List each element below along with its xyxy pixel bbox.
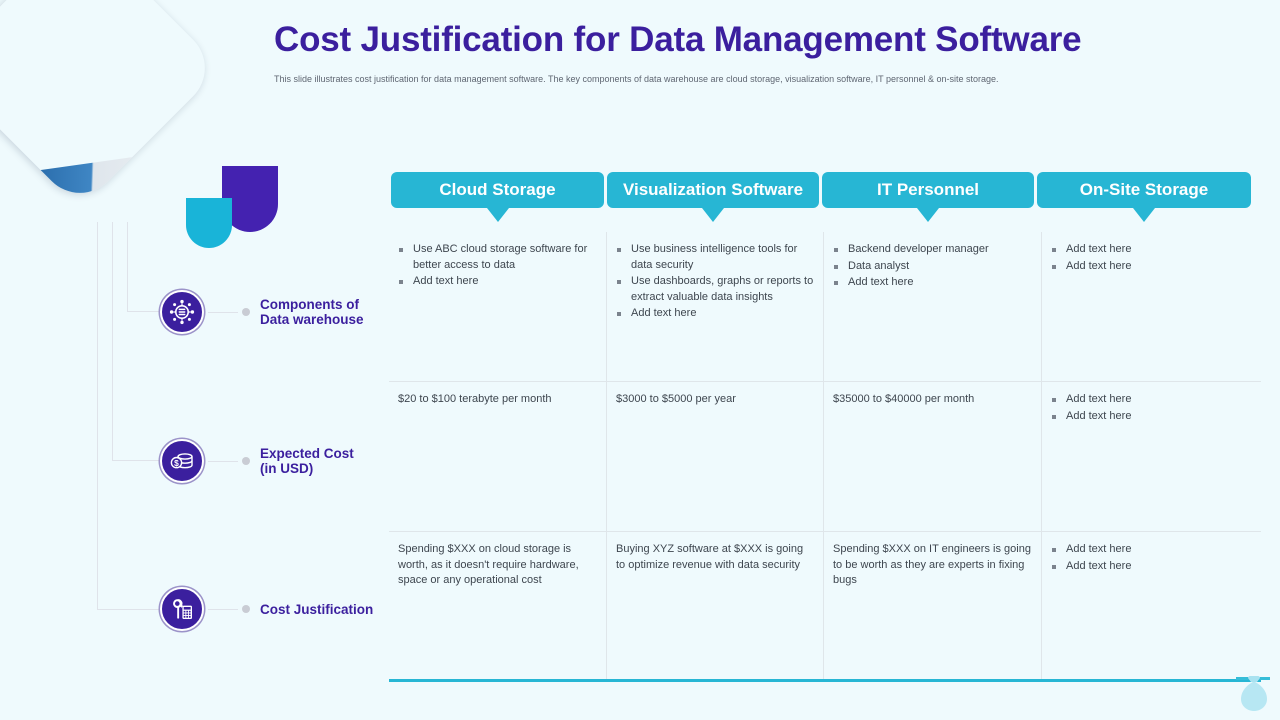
tab-pointer-icon: [1133, 208, 1155, 222]
table-cell: $3000 to $5000 per year: [607, 382, 824, 532]
bullet-list: Use ABC cloud storage software for bette…: [398, 242, 597, 290]
table-cell: Use business intelligence tools for data…: [607, 232, 824, 382]
table-cell: Backend developer manager Data analyst A…: [824, 232, 1042, 382]
list-item: Add text here: [616, 306, 814, 322]
cell-text: $3000 to $5000 per year: [616, 392, 814, 408]
table-cell: Buying XYZ software at $XXX is going to …: [607, 532, 824, 679]
cell-text: Buying XYZ software at $XXX is going to …: [616, 542, 814, 573]
hero-photo: [0, 0, 221, 209]
calculator-gear-icon: [160, 587, 204, 631]
list-item: Add text here: [1051, 242, 1252, 258]
tab-pointer-icon: [487, 208, 509, 222]
money-coins-icon: $: [160, 439, 204, 483]
table-bottom-accent-rule: [389, 679, 1261, 682]
page-subtitle: This slide illustrates cost justificatio…: [274, 74, 1164, 84]
svg-text:$: $: [174, 458, 179, 468]
rail-item-label-line1: Components of: [260, 297, 364, 312]
cyan-teardrop-decoration: [186, 198, 232, 248]
tab-it-personnel[interactable]: IT Personnel: [822, 172, 1034, 208]
list-item: Add text here: [1051, 392, 1252, 408]
cell-text: Spending $XXX on cloud storage is worth,…: [398, 542, 597, 589]
table-row: $20 to $100 terabyte per month $3000 to …: [389, 382, 1261, 532]
tab-cloud-storage[interactable]: Cloud Storage: [391, 172, 604, 208]
comparison-table: Use ABC cloud storage software for bette…: [389, 232, 1261, 679]
bullet-list: Add text here Add text here: [1051, 242, 1252, 274]
list-item: Use dashboards, graphs or reports to ext…: [616, 274, 814, 305]
list-item: Add text here: [1051, 559, 1252, 575]
bullet-list: Add text here Add text here: [1051, 542, 1252, 574]
table-row: Use ABC cloud storage software for bette…: [389, 232, 1261, 382]
table-cell: Add text here Add text here: [1042, 232, 1261, 382]
rail-item-label: Components of Data warehouse: [260, 297, 364, 327]
table-cell: Use ABC cloud storage software for bette…: [389, 232, 607, 382]
table-header-tabs: Cloud Storage Visualization Software IT …: [389, 172, 1261, 232]
cell-text: $35000 to $40000 per month: [833, 392, 1032, 408]
rail-connector-dot: [242, 605, 250, 613]
rail-connector-dot: [242, 457, 250, 465]
tab-pointer-icon: [702, 208, 724, 222]
rail-item-label-line1: Cost Justification: [260, 602, 373, 617]
rail-item-label-line2: (in USD): [260, 461, 354, 476]
rail-item-label-line2: Data warehouse: [260, 312, 364, 327]
table-cell: Spending $XXX on IT engineers is going t…: [824, 532, 1042, 679]
table-cell: Spending $XXX on cloud storage is worth,…: [389, 532, 607, 679]
list-item: Add text here: [1051, 259, 1252, 275]
rail-item-expected-cost[interactable]: $ Expected Cost (in USD): [160, 439, 354, 483]
list-item: Add text here: [1051, 542, 1252, 558]
rail-item-components-of-data-warehouse[interactable]: Components of Data warehouse: [160, 290, 364, 334]
list-item: Backend developer manager: [833, 242, 1032, 258]
list-item: Use business intelligence tools for data…: [616, 242, 814, 273]
tab-label: Visualization Software: [623, 180, 803, 200]
bullet-list: Backend developer manager Data analyst A…: [833, 242, 1032, 291]
tab-on-site-storage[interactable]: On-Site Storage: [1037, 172, 1251, 208]
money-bag-watermark-icon: [1234, 672, 1274, 716]
rail-connector-dash: [208, 609, 238, 610]
rail-connector-dot: [242, 308, 250, 316]
table-cell: $35000 to $40000 per month: [824, 382, 1042, 532]
laptop-shape: [6, 150, 195, 209]
bullet-list: Use business intelligence tools for data…: [616, 242, 814, 322]
data-warehouse-gear-icon: [160, 290, 204, 334]
list-item: Add text here: [833, 275, 1032, 291]
list-item: Add text here: [1051, 409, 1252, 425]
page-title: Cost Justification for Data Management S…: [274, 20, 1081, 60]
rail-connector-dash: [208, 312, 238, 313]
bullet-list: Add text here Add text here: [1051, 392, 1252, 424]
connector-line-inner: [127, 222, 162, 312]
rail-item-label: Cost Justification: [260, 602, 373, 617]
list-item: Use ABC cloud storage software for bette…: [398, 242, 597, 273]
table-cell: Add text here Add text here: [1042, 382, 1261, 532]
hero-photo-image: [0, 0, 221, 209]
hero-photo-group: [0, 0, 240, 228]
tab-label: Cloud Storage: [439, 180, 555, 200]
list-item: Data analyst: [833, 259, 1032, 275]
table-row: Spending $XXX on cloud storage is worth,…: [389, 532, 1261, 679]
tab-label: On-Site Storage: [1080, 180, 1208, 200]
tab-pointer-icon: [917, 208, 939, 222]
rail-item-label-line1: Expected Cost: [260, 446, 354, 461]
table-cell: Add text here Add text here: [1042, 532, 1261, 679]
rail-item-label: Expected Cost (in USD): [260, 446, 354, 476]
cell-text: $20 to $100 terabyte per month: [398, 392, 597, 408]
rail-item-cost-justification[interactable]: Cost Justification: [160, 587, 373, 631]
rail-connector-dash: [208, 461, 238, 462]
table-cell: $20 to $100 terabyte per month: [389, 382, 607, 532]
cell-text: Spending $XXX on IT engineers is going t…: [833, 542, 1032, 589]
tab-visualization-software[interactable]: Visualization Software: [607, 172, 819, 208]
tab-label: IT Personnel: [877, 180, 979, 200]
list-item: Add text here: [398, 274, 597, 290]
